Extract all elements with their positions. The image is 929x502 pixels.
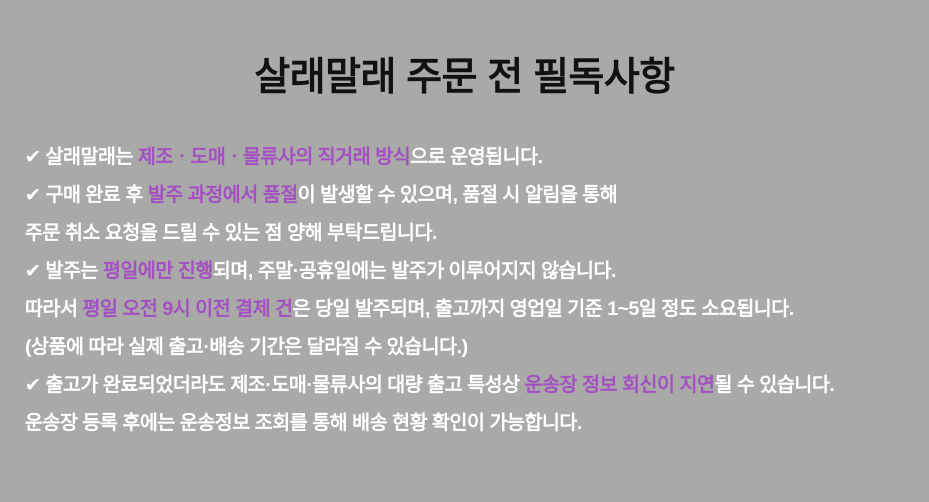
notice-text: 으로 운영됩니다.	[410, 146, 542, 168]
notice-text: 구매 완료 후	[45, 184, 147, 206]
notice-line: ✔구매 완료 후 발주 과정에서 품절이 발생할 수 있으며, 품절 시 알림을…	[25, 176, 925, 214]
notice-line: ✔살래말래는 제조ㆍ도매ㆍ물류사의 직거래 방식으로 운영됩니다.	[25, 138, 925, 176]
notice-text: 주문 취소 요청을 드릴 수 있는 점 양해 부탁드립니다.	[25, 222, 437, 244]
notice-text: 될 수 있습니다.	[714, 374, 834, 396]
check-icon: ✔	[25, 253, 41, 291]
notice-line: 운송장 등록 후에는 운송정보 조회를 통해 배송 현황 확인이 가능합니다.	[25, 404, 925, 442]
notice-line: ✔발주는 평일에만 진행되며, 주말·공휴일에는 발주가 이루어지지 않습니다.	[25, 252, 925, 290]
notice-text: 출고가 완료되었더라도 제조·도매·물류사의 대량 출고 특성상	[45, 374, 524, 396]
notice-text: 따라서	[25, 298, 82, 320]
notice-text: 되며, 주말·공휴일에는 발주가 이루어지지 않습니다.	[213, 260, 616, 282]
notice-line: ✔출고가 완료되었더라도 제조·도매·물류사의 대량 출고 특성상 운송장 정보…	[25, 366, 925, 404]
check-icon: ✔	[25, 367, 41, 405]
notice-text-highlight: 평일에만 진행	[103, 260, 213, 282]
notice-text-highlight: 평일 오전 9시 이전 결제 건	[82, 298, 292, 320]
notice-text: 발주는	[45, 260, 102, 282]
notice-line: (상품에 따라 실제 출고·배송 기간은 달라질 수 있습니다.)	[25, 328, 925, 366]
check-icon: ✔	[25, 177, 41, 215]
notice-line: 따라서 평일 오전 9시 이전 결제 건은 당일 발주되며, 출고까지 영업일 …	[25, 290, 925, 328]
notice-text: (상품에 따라 실제 출고·배송 기간은 달라질 수 있습니다.)	[25, 336, 468, 358]
notice-text: 은 당일 발주되며, 출고까지 영업일 기준 1~5일 정도 소요됩니다.	[293, 298, 794, 320]
notice-text: 살래말래는	[45, 146, 137, 168]
notice-line-list: ✔살래말래는 제조ㆍ도매ㆍ물류사의 직거래 방식으로 운영됩니다.✔구매 완료 …	[25, 138, 925, 442]
notice-line: 주문 취소 요청을 드릴 수 있는 점 양해 부탁드립니다.	[25, 214, 925, 252]
notice-text: 운송장 등록 후에는 운송정보 조회를 통해 배송 현황 확인이 가능합니다.	[25, 412, 582, 434]
notice-text-highlight: 제조ㆍ도매ㆍ물류사의 직거래 방식	[138, 146, 410, 168]
notice-card: 살래말래 주문 전 필독사항 ✔살래말래는 제조ㆍ도매ㆍ물류사의 직거래 방식으…	[0, 0, 929, 502]
check-icon: ✔	[25, 139, 41, 177]
notice-text-highlight: 운송장 정보 회신이 지연	[525, 374, 715, 396]
notice-text: 이 발생할 수 있으며, 품절 시 알림을 통해	[298, 184, 618, 206]
page-title: 살래말래 주문 전 필독사항	[0, 56, 929, 101]
notice-text-highlight: 발주 과정에서 품절	[148, 184, 298, 206]
